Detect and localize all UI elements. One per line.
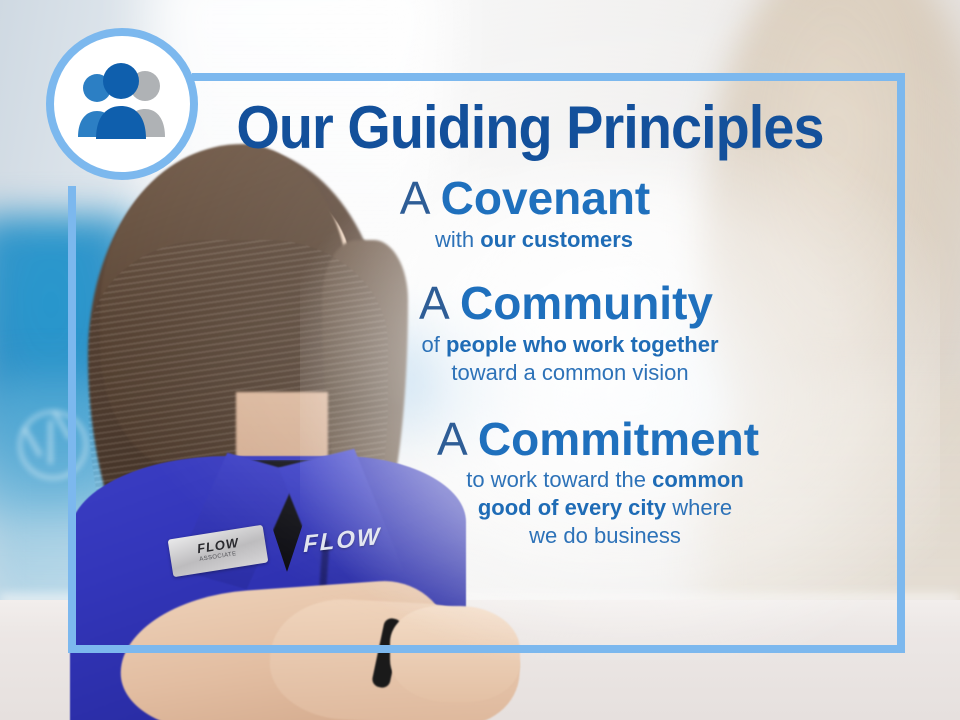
principle-3-sub-line-1: to work toward the common	[330, 466, 880, 494]
principle-commitment: A Commitment to work toward the common g…	[316, 415, 880, 550]
principle-2-sub-bold: people who work together	[446, 332, 719, 357]
principle-2-sub-line-1: of people who work together	[260, 331, 880, 359]
principle-3-subtext: to work toward the common good of every …	[330, 466, 880, 549]
principle-3-sub-line-2: good of every city where	[330, 494, 880, 522]
principle-2-sub-line-2: toward a common vision	[260, 359, 880, 387]
principle-3-sub-line-2-bold: good of every city	[478, 495, 666, 520]
principle-2-heading: A Community	[252, 279, 880, 328]
guiding-principles-banner: FLOW ASSOCIATE FLOW	[0, 0, 960, 720]
principle-3-sub-line-1-plain: to work toward the	[466, 467, 652, 492]
principle-2-article: A	[419, 277, 447, 329]
folded-hands	[390, 606, 520, 702]
principle-3-sub-line-1-bold: common	[652, 467, 744, 492]
principle-3-sub-line-3: we do business	[330, 522, 880, 550]
principle-community: A Community of people who work together …	[252, 279, 880, 386]
people-group-icon	[69, 63, 175, 145]
page-title: Our Guiding Principles	[205, 98, 856, 158]
principle-3-sub-line-2-plain: where	[666, 495, 732, 520]
people-icon-badge	[46, 28, 198, 180]
copy-block: Our Guiding Principles A Covenant with o…	[180, 80, 880, 550]
principle-1-article: A	[400, 172, 428, 224]
principle-3-word: Commitment	[478, 413, 759, 465]
principle-1-word: Covenant	[441, 172, 651, 224]
principle-2-subtext: of people who work together toward a com…	[260, 331, 880, 386]
principle-1-heading: A Covenant	[170, 174, 880, 223]
principle-3-article: A	[437, 413, 465, 465]
principle-3-heading: A Commitment	[316, 415, 880, 464]
principle-covenant: A Covenant with our customers	[170, 174, 880, 253]
principle-2-word: Community	[460, 277, 713, 329]
principle-1-sub-bold: our customers	[480, 227, 633, 252]
principle-2-sub-plain: of	[421, 332, 445, 357]
principle-1-sub-plain: with	[435, 227, 480, 252]
principle-1-subtext: with our customers	[188, 226, 880, 254]
